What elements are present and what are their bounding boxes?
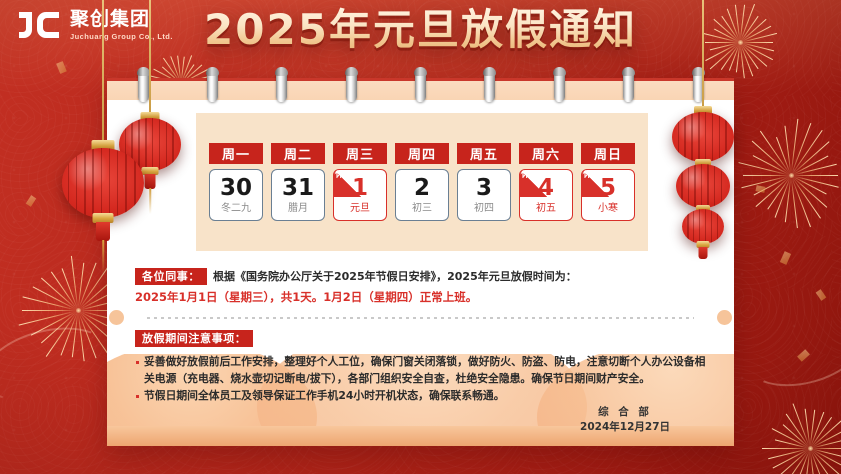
- calendar-day-cell: 3初四: [457, 169, 511, 221]
- divider-dots: [147, 317, 694, 319]
- calendar-weekday-header: 周一: [209, 143, 263, 164]
- calendar-day-cell: 休5小寒: [581, 169, 635, 221]
- poster-canvas: 聚创集团 Juchuang Group Co., Ltd. 2025年元旦放假通…: [0, 0, 841, 474]
- signature-block: 综 合 部 2024年12月27日: [580, 405, 670, 435]
- calendar-day-cell: 30冬二九: [209, 169, 263, 221]
- rest-day-flag: 休: [520, 170, 547, 197]
- calendar-day-lunar: 初四: [474, 204, 494, 214]
- calendar-day-column: 周四2初三: [395, 143, 449, 221]
- calendar-day-number: 31: [282, 177, 314, 200]
- calendar-day-column: 周三休1元旦: [333, 143, 387, 221]
- divider-notch-left: [109, 310, 124, 325]
- calendar-weekday-header: 周三: [333, 143, 387, 164]
- notice-line-1: 根据《国务院办公厅关于2025年节假日安排》，2025年元旦放假时间为：: [213, 268, 577, 285]
- calendar-day-cell: 休1元旦: [333, 169, 387, 221]
- page-title: 2025年元旦放假通知: [0, 6, 841, 53]
- calendar-weekday-header: 周五: [457, 143, 511, 164]
- greeting-line: 各位同事： 根据《国务院办公厅关于2025年节假日安排》，2025年元旦放假时间…: [135, 268, 706, 285]
- signature-department: 综 合 部: [580, 405, 670, 420]
- binding-ring: [207, 70, 218, 102]
- calendar-day-lunar: 初五: [536, 204, 556, 214]
- binding-ring: [623, 70, 634, 102]
- divider-notch-right: [717, 310, 732, 325]
- binding-ring: [138, 70, 149, 102]
- calendar-weekday-header: 周日: [581, 143, 635, 164]
- calendar-day-number: 2: [414, 177, 430, 200]
- calendar-day-cell: 2初三: [395, 169, 449, 221]
- calendar-day-column: 周六休4初五: [519, 143, 573, 221]
- calendar-day-number: 30: [220, 177, 252, 200]
- notice-card: 周一30冬二九周二31腊月周三休1元旦周四2初三周五3初四周六休4初五周日休5小…: [107, 78, 734, 446]
- notice-line-2: 2025年1月1日（星期三），共1天。1月2日（星期四）正常上班。: [135, 288, 706, 306]
- calendar-day-lunar: 初三: [412, 204, 432, 214]
- calendar-day-column: 周二31腊月: [271, 143, 325, 221]
- binding-ring: [484, 70, 495, 102]
- calendar-day-column: 周一30冬二九: [209, 143, 263, 221]
- calendar-day-lunar: 腊月: [288, 204, 308, 214]
- signature-date: 2024年12月27日: [580, 420, 670, 435]
- calendar-day-number: 3: [476, 177, 492, 200]
- rest-day-label: 休: [521, 170, 530, 181]
- spiral-binding-rings: [107, 70, 734, 104]
- attention-item: 妥善做好放假前后工作安排，整理好个人工位，确保门窗关闭落锁，做好防火、防盗、防电…: [135, 354, 706, 387]
- calendar-weekday-header: 周二: [271, 143, 325, 164]
- binding-ring: [415, 70, 426, 102]
- calendar-panel: 周一30冬二九周二31腊月周三休1元旦周四2初三周五3初四周六休4初五周日休5小…: [196, 113, 648, 251]
- calendar-day-column: 周五3初四: [457, 143, 511, 221]
- attention-list: 妥善做好放假前后工作安排，整理好个人工位，确保门窗关闭落锁，做好防火、防盗、防电…: [135, 354, 706, 405]
- calendar-day-lunar: 元旦: [350, 204, 370, 214]
- rest-day-flag: 休: [582, 170, 609, 197]
- calendar-weekday-header: 周四: [395, 143, 449, 164]
- greeting-badge: 各位同事：: [135, 268, 207, 285]
- binding-ring: [693, 70, 704, 102]
- calendar-day-lunar: 小寒: [598, 204, 618, 214]
- rest-day-label: 休: [335, 170, 344, 181]
- binding-ring: [554, 70, 565, 102]
- rest-day-label: 休: [583, 170, 592, 181]
- calendar-day-lunar: 冬二九: [221, 204, 251, 214]
- calendar-weekday-header: 周六: [519, 143, 573, 164]
- attention-badge: 放假期间注意事项：: [135, 330, 253, 347]
- calendar-day-cell: 31腊月: [271, 169, 325, 221]
- notice-body: 各位同事： 根据《国务院办公厅关于2025年节假日安排》，2025年元旦放假时间…: [107, 268, 734, 406]
- binding-ring: [276, 70, 287, 102]
- attention-item: 节假日期间全体员工及领导保证工作手机24小时开机状态，确保联系畅通。: [135, 388, 706, 405]
- calendar-day-column: 周日休5小寒: [581, 143, 635, 221]
- section-divider: [137, 317, 704, 319]
- calendar-day-cell: 休4初五: [519, 169, 573, 221]
- rest-day-flag: 休: [334, 170, 361, 197]
- calendar-grid: 周一30冬二九周二31腊月周三休1元旦周四2初三周五3初四周六休4初五周日休5小…: [209, 143, 635, 221]
- binding-ring: [346, 70, 357, 102]
